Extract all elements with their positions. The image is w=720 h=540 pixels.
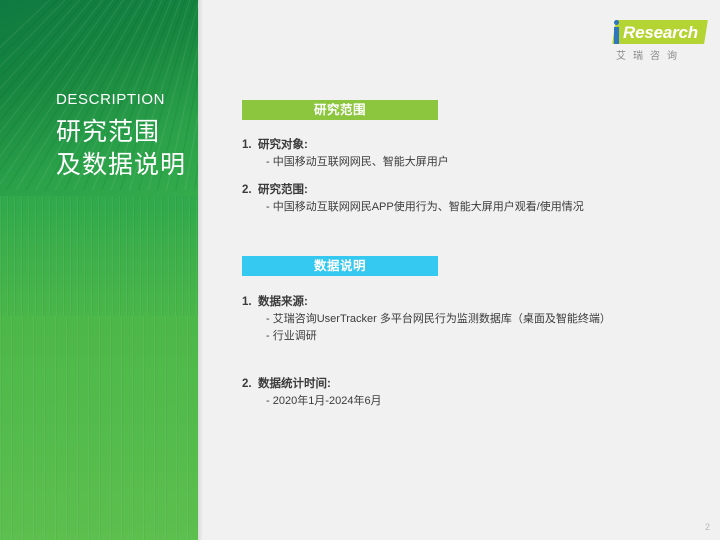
page-title-line-2: 及数据说明	[56, 149, 206, 182]
vertical-stripe-texture-bottom	[0, 316, 198, 540]
list-item-number: 2.	[242, 376, 258, 393]
list-item-heading: 1.研究对象:	[242, 137, 692, 154]
list-item: 2.数据统计时间: - 2020年1月-2024年6月	[242, 376, 692, 410]
page-number: 2	[705, 522, 710, 532]
list-item-detail: - 艾瑞咨询UserTracker 多平台网民行为监测数据库（桌面及智能终端）	[266, 311, 692, 328]
list-item-detail: - 中国移动互联网网民APP使用行为、智能大屏用户观看/使用情况	[266, 199, 692, 216]
list-item-number: 2.	[242, 182, 258, 199]
list-item-title: 数据来源:	[258, 296, 308, 308]
list-item: 1.研究对象: - 中国移动互联网网民、智能大屏用户	[242, 137, 692, 171]
list-item-detail: - 2020年1月-2024年6月	[266, 393, 692, 410]
list-item-detail: - 中国移动互联网网民、智能大屏用户	[266, 154, 692, 171]
section-bar-data-description: 数据说明	[242, 256, 438, 276]
panel-edge-shadow	[198, 0, 203, 540]
left-decorative-panel	[0, 0, 198, 540]
list-item-title: 数据统计时间:	[258, 378, 331, 390]
list-item: 1.数据来源: - 艾瑞咨询UserTracker 多平台网民行为监测数据库（桌…	[242, 294, 692, 345]
content-area: 研究范围 1.研究对象: - 中国移动互联网网民、智能大屏用户 2.研究范围: …	[242, 0, 702, 540]
list-item-title: 研究范围:	[258, 184, 308, 196]
list-item-heading: 1.数据来源:	[242, 294, 692, 311]
slide-canvas: DESCRIPTION 研究范围 及数据说明 Research 艾瑞咨询 研究范…	[0, 0, 720, 540]
list-item: 2.研究范围: - 中国移动互联网网民APP使用行为、智能大屏用户观看/使用情况	[242, 182, 692, 216]
slide-heading-group: DESCRIPTION 研究范围 及数据说明	[56, 90, 206, 182]
list-item-heading: 2.数据统计时间:	[242, 376, 692, 393]
list-item-heading: 2.研究范围:	[242, 182, 692, 199]
list-item-title: 研究对象:	[258, 139, 308, 151]
panel-bottom-gradient	[0, 316, 198, 540]
list-item-number: 1.	[242, 137, 258, 154]
vertical-stripe-texture-mid	[0, 196, 198, 316]
panel-mid-gradient	[0, 196, 198, 316]
section-bar-research-scope: 研究范围	[242, 100, 438, 120]
section-kicker: DESCRIPTION	[56, 90, 206, 110]
list-item-detail: - 行业调研	[266, 328, 692, 345]
page-title-line-1: 研究范围	[56, 116, 206, 149]
list-item-number: 1.	[242, 294, 258, 311]
